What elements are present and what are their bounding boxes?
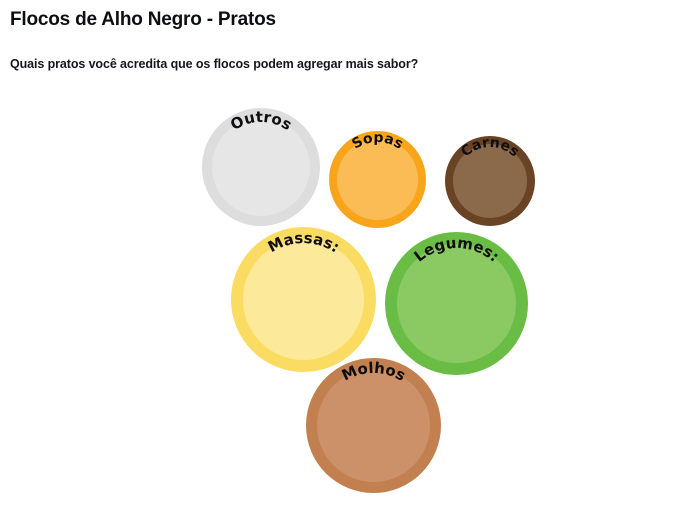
bubble-inner-disc bbox=[212, 118, 310, 216]
bubble-legumes[interactable]: Legumes: bbox=[385, 232, 528, 375]
bubble-outros[interactable]: Outros bbox=[202, 108, 320, 226]
bubble-inner-disc bbox=[317, 369, 430, 482]
page-subtitle: Quais pratos você acredita que os flocos… bbox=[10, 57, 418, 71]
bubble-inner-disc bbox=[397, 244, 516, 363]
bubble-massas[interactable]: Massas: bbox=[231, 227, 376, 372]
bubble-inner-disc bbox=[337, 139, 418, 220]
page-title: Flocos de Alho Negro - Pratos bbox=[10, 9, 276, 31]
bubble-molhos[interactable]: Molhos bbox=[306, 358, 441, 493]
bubble-carnes[interactable]: Carnes bbox=[445, 136, 535, 226]
bubble-chart: OutrosSopasCarnesMassas:Legumes:Molhos bbox=[0, 88, 690, 511]
bubble-inner-disc bbox=[453, 144, 527, 218]
bubble-inner-disc bbox=[243, 239, 364, 360]
bubble-sopas[interactable]: Sopas bbox=[329, 131, 426, 228]
